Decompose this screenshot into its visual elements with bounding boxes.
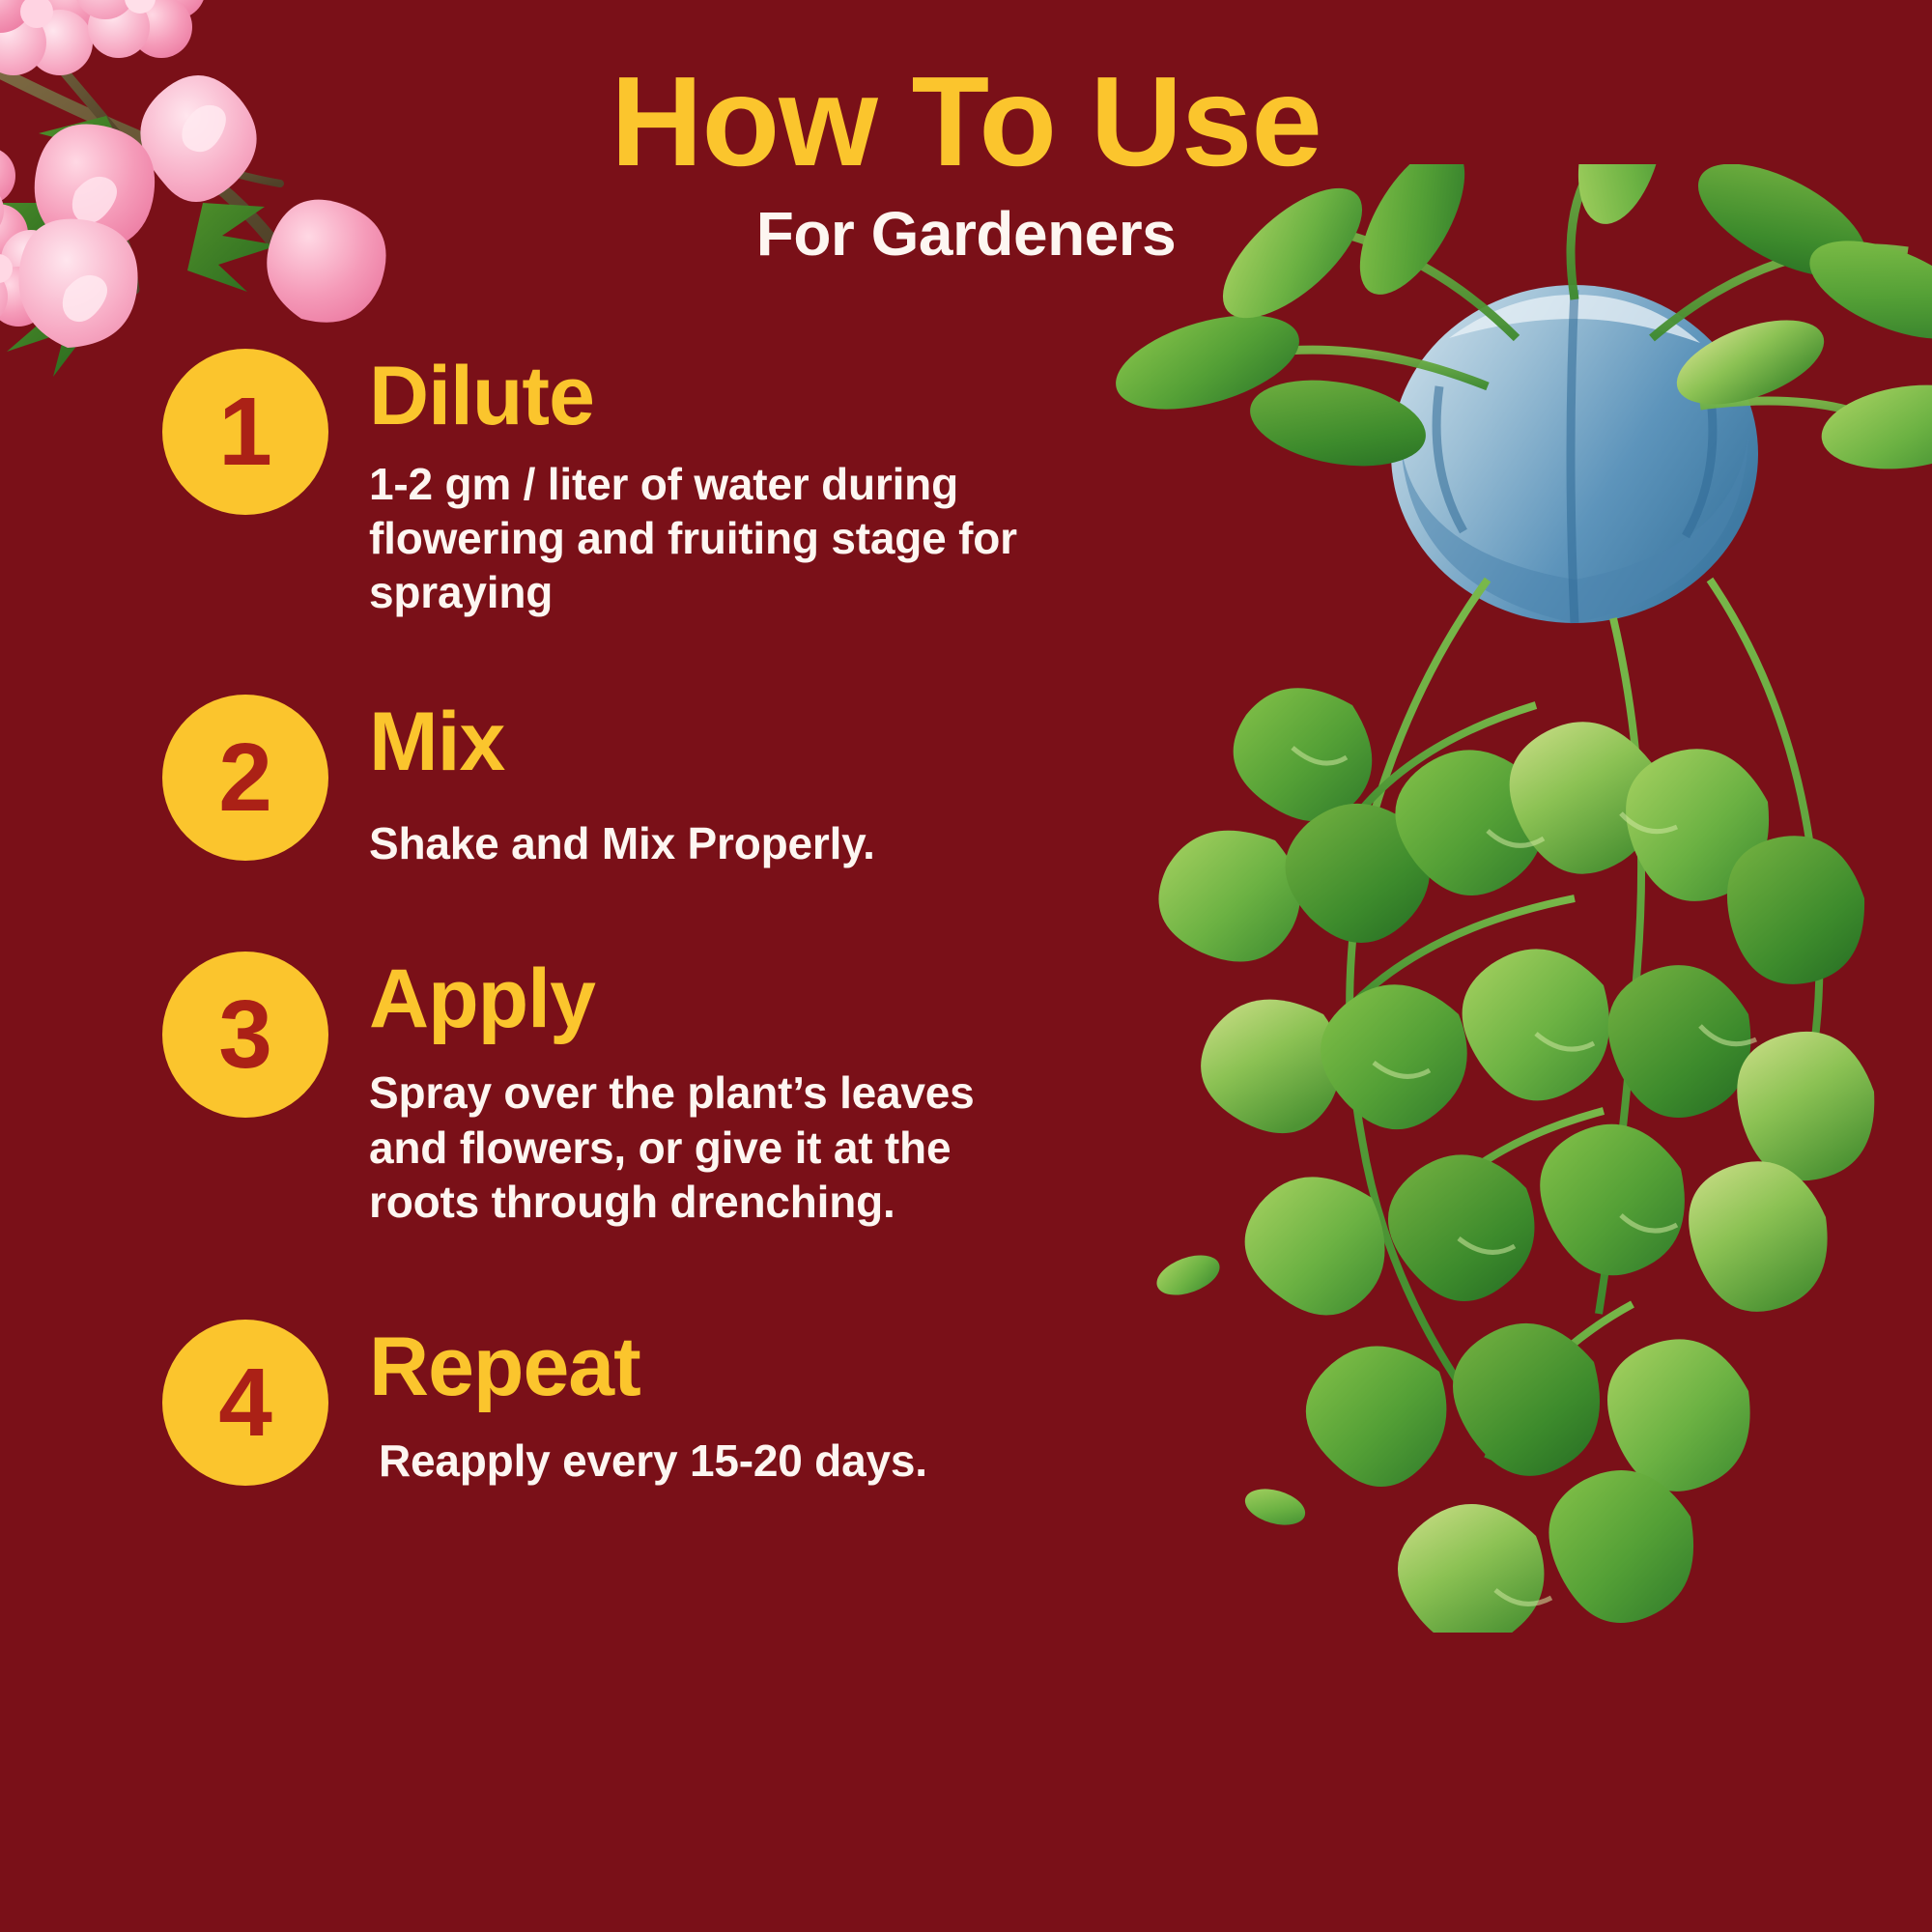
plant-pot bbox=[1391, 285, 1758, 623]
steps-list: 1 Dilute 1-2 gm / liter of water during … bbox=[162, 343, 1051, 1488]
page-subtitle: For Gardeners bbox=[0, 203, 1932, 265]
step-heading-apply: Apply bbox=[369, 957, 1051, 1040]
step-number-badge-4: 4 bbox=[162, 1320, 328, 1486]
step-heading-mix: Mix bbox=[369, 700, 1051, 783]
step-item-4: 4 Repeat Reapply every 15-20 days. bbox=[162, 1314, 1051, 1488]
step-number-badge-1: 1 bbox=[162, 349, 328, 515]
header: How To Use For Gardeners bbox=[0, 58, 1932, 265]
step-content-2: Mix Shake and Mix Properly. bbox=[328, 689, 1051, 870]
step-heading-dilute: Dilute bbox=[369, 355, 1051, 438]
step-text-apply: Spray over the plant’s leaves and flower… bbox=[369, 1065, 1026, 1228]
step-number-badge-3: 3 bbox=[162, 952, 328, 1118]
step-item-2: 2 Mix Shake and Mix Properly. bbox=[162, 689, 1051, 870]
step-item-1: 1 Dilute 1-2 gm / liter of water during … bbox=[162, 343, 1051, 619]
step-text-repeat: Reapply every 15-20 days. bbox=[369, 1434, 1026, 1488]
step-content-1: Dilute 1-2 gm / liter of water during fl… bbox=[328, 343, 1051, 619]
step-content-3: Apply Spray over the plant’s leaves and … bbox=[328, 946, 1051, 1228]
step-text-mix: Shake and Mix Properly. bbox=[369, 816, 1026, 870]
step-content-4: Repeat Reapply every 15-20 days. bbox=[328, 1314, 1051, 1488]
infographic-canvas: How To Use For Gardeners 1 Dilute 1-2 gm… bbox=[0, 0, 1932, 1932]
hanging-vines bbox=[1151, 580, 1874, 1633]
step-number-badge-2: 2 bbox=[162, 695, 328, 861]
step-item-3: 3 Apply Spray over the plant’s leaves an… bbox=[162, 946, 1051, 1228]
step-heading-repeat: Repeat bbox=[369, 1325, 1051, 1408]
step-text-dilute: 1-2 gm / liter of water during flowering… bbox=[369, 457, 1026, 619]
trailing-pothos-plant-illustration bbox=[1034, 164, 1932, 1633]
page-title: How To Use bbox=[0, 58, 1932, 185]
leaf-cluster bbox=[1158, 688, 1874, 1633]
